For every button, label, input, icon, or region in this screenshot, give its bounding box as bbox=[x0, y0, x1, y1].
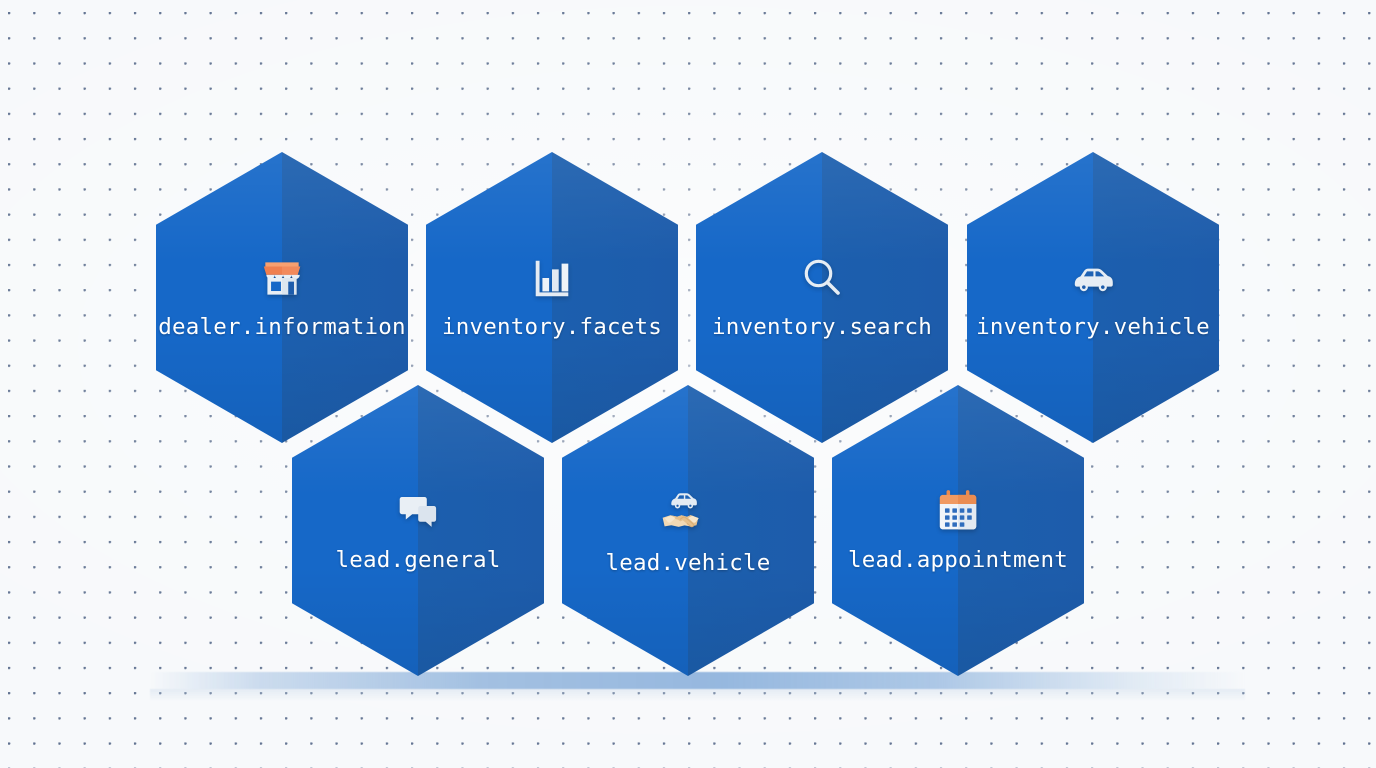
car-icon bbox=[1067, 252, 1119, 304]
calendar-icon bbox=[932, 485, 984, 537]
hex-node-label: dealer.information bbox=[158, 316, 405, 339]
hex-node-lead-appointment[interactable]: lead.appointment bbox=[832, 385, 1084, 676]
hex-node-label: lead.appointment bbox=[848, 549, 1068, 572]
hex-node-inventory-facets[interactable]: inventory.facets bbox=[426, 152, 678, 443]
hex-grid: dealer.information inventory.facets bbox=[0, 0, 1376, 768]
hex-node-dealer-information[interactable]: dealer.information bbox=[156, 152, 408, 443]
chat-bubbles-icon bbox=[392, 485, 444, 537]
hex-node-label: inventory.vehicle bbox=[976, 316, 1210, 339]
diagram-canvas: dealer.information inventory.facets bbox=[0, 0, 1376, 768]
hex-node-label: inventory.search bbox=[712, 316, 932, 339]
store-icon bbox=[256, 252, 308, 304]
hex-node-label: lead.vehicle bbox=[606, 552, 771, 575]
hex-node-inventory-search[interactable]: inventory.search bbox=[696, 152, 948, 443]
hex-node-label: inventory.facets bbox=[442, 316, 662, 339]
hex-node-inventory-vehicle[interactable]: inventory.vehicle bbox=[967, 152, 1219, 443]
bar-chart-icon bbox=[526, 252, 578, 304]
hex-node-lead-general[interactable]: lead.general bbox=[292, 385, 544, 676]
hex-node-lead-vehicle[interactable]: lead.vehicle bbox=[562, 385, 814, 676]
search-icon bbox=[796, 252, 848, 304]
car-handshake-icon bbox=[659, 482, 717, 540]
hex-node-label: lead.general bbox=[336, 549, 501, 572]
